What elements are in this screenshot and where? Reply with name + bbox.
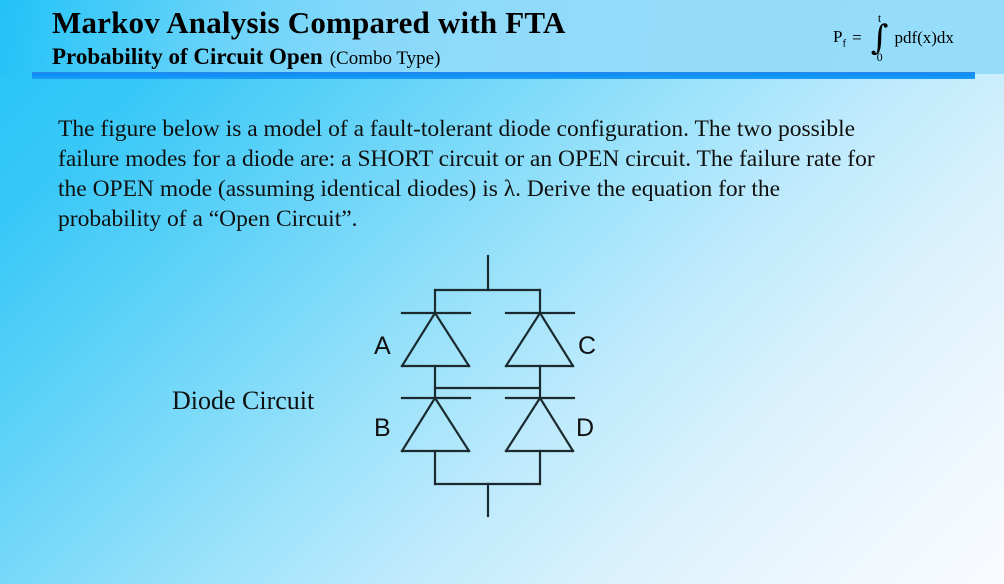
- diode-a-right-edge: [435, 313, 469, 366]
- integral-sign-icon: ∫: [871, 25, 889, 51]
- formula-lower-limit: 0: [877, 51, 883, 64]
- formula-pf-subscript: f: [842, 37, 846, 49]
- page-title: Markov Analysis Compared with FTA: [52, 4, 812, 42]
- diode-d-left-edge: [506, 398, 540, 451]
- formula-equals-sign: =: [852, 28, 862, 48]
- probability-formula: Pf = t ∫ 0 pdf(x)dx: [833, 8, 954, 68]
- slide-canvas: Markov Analysis Compared with FTA Probab…: [0, 0, 1004, 584]
- body-paragraph: The figure below is a model of a fault-t…: [58, 114, 888, 234]
- header-divider-rule: [32, 72, 975, 79]
- page-subtitle: Probability of Circuit Open: [52, 43, 323, 71]
- formula-integral: t ∫ 0: [871, 12, 889, 64]
- diode-b-left-edge: [402, 398, 435, 451]
- formula-integrand: pdf(x)dx: [894, 28, 953, 48]
- diode-circuit-figure: Diode Circuit A C B D: [150, 248, 650, 538]
- page-subtitle-note: (Combo Type): [330, 45, 441, 73]
- formula-pf-symbol: Pf: [833, 27, 846, 49]
- subtitle-row: Probability of Circuit Open (Combo Type): [52, 43, 812, 73]
- diode-d-right-edge: [540, 398, 573, 451]
- diode-c-left-edge: [506, 313, 540, 366]
- diode-bridge-schematic: [380, 248, 630, 528]
- diode-b-right-edge: [435, 398, 469, 451]
- title-block: Markov Analysis Compared with FTA Probab…: [52, 4, 812, 73]
- circuit-caption: Diode Circuit: [172, 386, 314, 416]
- diode-a-left-edge: [402, 313, 435, 366]
- diode-c-right-edge: [540, 313, 573, 366]
